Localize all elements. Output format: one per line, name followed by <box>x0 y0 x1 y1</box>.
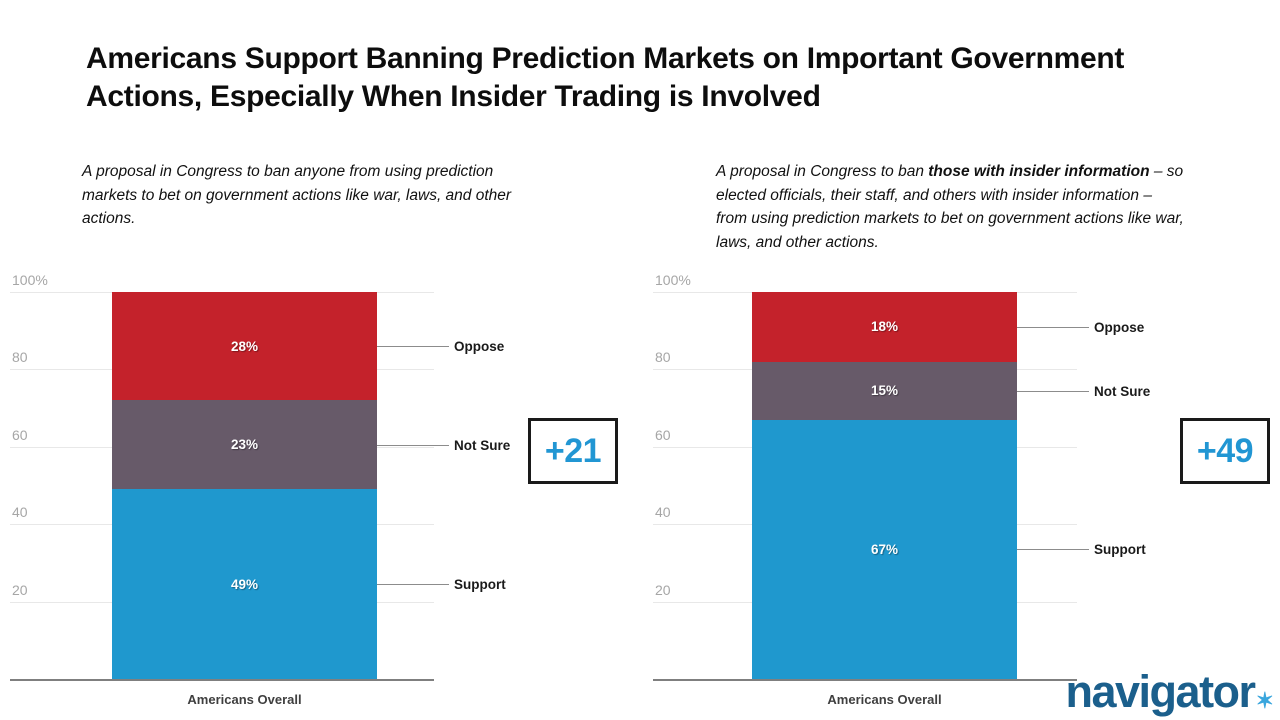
x-axis-category-label: Americans Overall <box>752 693 1017 706</box>
subtitle-text-plain-before: A proposal in Congress to ban <box>716 163 928 180</box>
bar-segment-support[interactable]: 49% <box>112 489 377 679</box>
series-label-not-sure: Not Sure <box>454 439 510 453</box>
stacked-bar[interactable]: 28%23%49% <box>112 292 377 679</box>
x-axis-line <box>10 679 434 681</box>
subtitle-text-plain: A proposal in Congress to ban anyone fro… <box>82 163 511 227</box>
plot-area-left: 100%8060402028%23%49%OpposeNot SureSuppo… <box>0 268 640 708</box>
series-label-support: Support <box>454 578 506 592</box>
leader-line <box>377 346 449 347</box>
y-axis-tick-label: 100% <box>12 273 48 287</box>
bar-segment-support[interactable]: 67% <box>752 420 1017 679</box>
page-title: Americans Support Banning Prediction Mar… <box>86 40 1206 117</box>
leader-line <box>1017 327 1089 328</box>
chart-subtitle-left: A proposal in Congress to ban anyone fro… <box>82 160 552 231</box>
series-label-oppose: Oppose <box>454 340 504 354</box>
plot-area-right: 100%8060402018%15%67%OpposeNot SureSuppo… <box>640 268 1280 708</box>
x-axis-line <box>653 679 1077 681</box>
series-label-oppose: Oppose <box>1094 321 1144 335</box>
leader-line <box>1017 391 1089 392</box>
bar-segment-value-label: 67% <box>871 542 898 557</box>
y-axis-tick-label: 40 <box>12 505 28 519</box>
leader-line <box>377 584 449 585</box>
subtitle-text-bold: those with insider information <box>928 163 1149 180</box>
y-axis-tick-label: 100% <box>655 273 691 287</box>
bar-segment-not-sure[interactable]: 23% <box>112 400 377 489</box>
navigator-logo: navigator ✶ <box>1066 669 1274 714</box>
bar-segment-value-label: 15% <box>871 383 898 398</box>
navigator-wordmark: navigator <box>1066 669 1255 714</box>
y-axis-tick-label: 60 <box>655 428 671 442</box>
net-score-value: +21 <box>545 432 601 471</box>
chart-panel-right: A proposal in Congress to ban those with… <box>640 150 1280 710</box>
y-axis-tick-label: 20 <box>12 583 28 597</box>
net-score-value: +49 <box>1197 432 1253 471</box>
y-axis-tick-label: 40 <box>655 505 671 519</box>
stacked-bar[interactable]: 18%15%67% <box>752 292 1017 679</box>
x-axis-category-label: Americans Overall <box>112 693 377 706</box>
asterisk-icon: ✶ <box>1256 690 1274 712</box>
series-label-support: Support <box>1094 543 1146 557</box>
bar-segment-not-sure[interactable]: 15% <box>752 362 1017 420</box>
bar-segment-value-label: 28% <box>231 339 258 354</box>
bar-segment-value-label: 49% <box>231 577 258 592</box>
net-score-box-right: +49 <box>1180 418 1270 484</box>
net-score-box-left: +21 <box>528 418 618 484</box>
y-axis-tick-label: 80 <box>655 350 671 364</box>
bar-segment-oppose[interactable]: 18% <box>752 292 1017 362</box>
series-label-not-sure: Not Sure <box>1094 385 1150 399</box>
bar-segment-value-label: 18% <box>871 319 898 334</box>
bar-segment-value-label: 23% <box>231 437 258 452</box>
chart-panel-left: A proposal in Congress to ban anyone fro… <box>0 150 640 710</box>
y-axis-tick-label: 60 <box>12 428 28 442</box>
bar-segment-oppose[interactable]: 28% <box>112 292 377 400</box>
y-axis-tick-label: 20 <box>655 583 671 597</box>
chart-subtitle-right: A proposal in Congress to ban those with… <box>716 160 1186 254</box>
leader-line <box>377 445 449 446</box>
leader-line <box>1017 549 1089 550</box>
y-axis-tick-label: 80 <box>12 350 28 364</box>
